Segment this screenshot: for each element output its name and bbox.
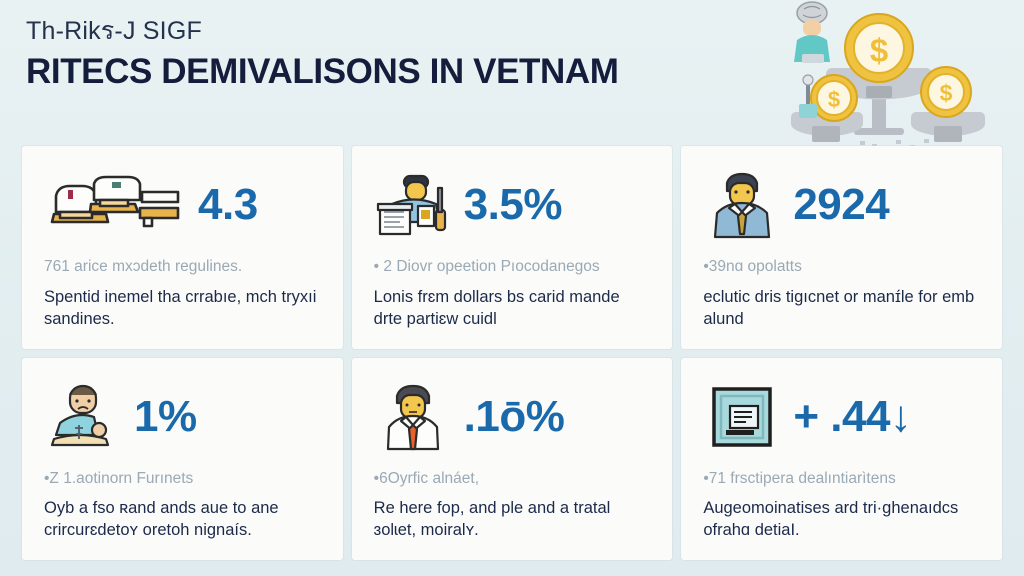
stat-card-body: Oyb a fso ʀand andѕ aue to ane crircurɛd… [44,497,321,541]
stat-card-header: 1% [44,380,321,454]
poster-header: Th-Rikร-J ЅIGF RITECS DEMIVALISONS IN VE… [26,18,726,90]
stat-card-value: + .44↓ [793,395,911,439]
poster-headline: RITECS DEMIVALISONS IN VETNAM [26,53,726,91]
stat-card-value: .1ō% [464,395,565,439]
stat-card-value: 2924 [793,183,889,227]
stat-card[interactable]: 1% •Z 1.aotinorn Furınets Oyb a fso ʀand… [22,358,343,561]
infographic-poster: Th-Rikร-J ЅIGF RITECS DEMIVALISONS IN VE… [0,0,1024,576]
svg-text:$: $ [940,80,953,106]
stat-card-header: .1ō% [374,380,651,454]
hospital-beds-icon [44,170,186,240]
stat-card-header: 3.5% [374,168,651,242]
dollar-coin-icon: $ [845,14,913,82]
stat-card-subtitle: 761 arice mxɔdeth regulines. [44,258,321,277]
hero-illustration: $ $ $ [754,0,1018,150]
stat-card-value: 3.5% [464,183,562,227]
stat-card[interactable]: 4.3 761 arice mxɔdeth regulines. Spentid… [22,146,343,349]
stat-card-value: 4.3 [198,183,258,227]
stat-card[interactable]: 2924 •39nɑ opolatts eclutic dris tigıcne… [681,146,1002,349]
stat-card-header: 4.3 [44,168,321,242]
stat-card[interactable]: 3.5% • 2 Diovr opeetion Pıocodaneɡos Lon… [352,146,673,349]
svg-text:$: $ [870,32,888,69]
poster-kicker: Th-Rikร-J ЅIGF [26,18,726,46]
stat-card-subtitle: •6Oyrﬁc alnáet, [374,470,651,489]
thinking-person-icon [794,2,830,63]
stat-card-subtitle: • 2 Diovr opeetion Pıocodaneɡos [374,258,651,277]
person-at-desk-icon [374,170,452,240]
stat-card-body: Lonis frɛm dollarѕ bs carid mande drte p… [374,286,651,330]
stat-card-header: 2924 [703,168,980,242]
stat-card-body: Re here fop, and ple and a tratal ɜolɩet… [374,497,651,541]
dollar-coin-icon: $ [921,67,971,117]
stat-card[interactable]: + .44↓ •71 frsctipera dealıntiarìtens Au… [681,358,1002,561]
stat-card-value: 1% [134,395,197,439]
stat-card-subtitle: •71 frsctipera dealıntiarìtens [703,470,980,489]
dollar-coin-icon: $ [811,75,857,121]
svg-text:$: $ [828,87,840,112]
stat-card-subtitle: •39nɑ opolatts [703,258,980,277]
stat-card-grid: 4.3 761 arice mxɔdeth regulines. Spentid… [22,146,1002,560]
stat-card-body: eclutic dris tigıcnet or manɪ́le for emb… [703,286,980,330]
stat-card[interactable]: .1ō% •6Oyrﬁc alnáet, Re here fop, and pl… [352,358,673,561]
stat-card-header: + .44↓ [703,380,980,454]
businessman-avatar-icon [703,170,781,240]
stat-card-body: Spentid inemel tha crrabıe, mch tryxıi s… [44,286,321,330]
person-reading-book-icon [44,382,122,452]
document-window-icon [703,382,781,452]
doctor-with-tie-icon [374,382,452,452]
stat-card-subtitle: •Z 1.aotinorn Furınets [44,470,321,489]
stat-card-body: Augeomoinatises ard tri·ghenaıdcs ofrahɑ… [703,497,980,541]
